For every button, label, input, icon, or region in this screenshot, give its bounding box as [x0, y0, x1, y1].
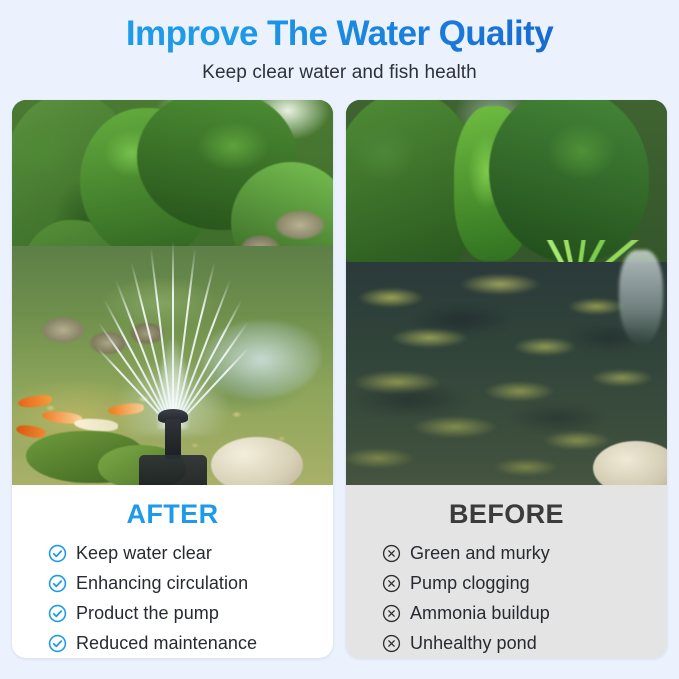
list-item-label: Ammonia buildup [410, 603, 550, 624]
x-circle-icon [382, 544, 401, 563]
before-card: BEFORE Green and murky Pump clogging [346, 100, 667, 658]
list-item: Product the pump [48, 598, 333, 628]
x-circle-icon [382, 604, 401, 623]
list-item: Pump clogging [382, 568, 667, 598]
page-title: Improve The Water Quality [0, 14, 679, 54]
before-problem-list: Green and murky Pump clogging Ammonia bu… [346, 538, 667, 658]
check-circle-icon [48, 544, 67, 563]
list-item: Enhancing circulation [48, 568, 333, 598]
list-item-label: Unhealthy pond [410, 633, 537, 654]
murky-algae-pond-photo [346, 100, 667, 485]
list-item: Keep water clear [48, 538, 333, 568]
check-circle-icon [48, 604, 67, 623]
list-item: Green and murky [382, 538, 667, 568]
list-item-label: Pump clogging [410, 573, 530, 594]
list-item-label: Enhancing circulation [76, 573, 248, 594]
list-item-label: Green and murky [410, 543, 550, 564]
before-card-footer: BEFORE Green and murky Pump clogging [346, 485, 667, 658]
list-item-label: Keep water clear [76, 543, 212, 564]
x-circle-icon [382, 574, 401, 593]
x-circle-icon [382, 634, 401, 653]
check-circle-icon [48, 574, 67, 593]
after-card-footer: AFTER Keep water clear Enhancing circula… [12, 485, 333, 658]
comparison-panels: AFTER Keep water clear Enhancing circula… [0, 100, 679, 660]
list-item-label: Reduced maintenance [76, 633, 257, 654]
after-benefit-list: Keep water clear Enhancing circulation P… [12, 538, 333, 658]
small-waterfall [619, 250, 663, 346]
before-label: BEFORE [346, 499, 667, 530]
check-circle-icon [48, 634, 67, 653]
fountain-stem [165, 419, 181, 459]
list-item: Ammonia buildup [382, 598, 667, 628]
page-subtitle: Keep clear water and fish health [0, 62, 679, 84]
list-item-label: Product the pump [76, 603, 219, 624]
pale-boulder [211, 437, 303, 485]
list-item: Unhealthy pond [382, 628, 667, 658]
after-card: AFTER Keep water clear Enhancing circula… [12, 100, 333, 658]
list-item: Reduced maintenance [48, 628, 333, 658]
fountain-core-spray [152, 233, 194, 429]
after-label: AFTER [12, 499, 333, 530]
water-fountain-spray [93, 199, 253, 429]
submersible-pump [139, 455, 207, 485]
header: Improve The Water Quality Keep clear wat… [0, 0, 679, 84]
clear-pond-with-fountain-photo [12, 100, 333, 485]
